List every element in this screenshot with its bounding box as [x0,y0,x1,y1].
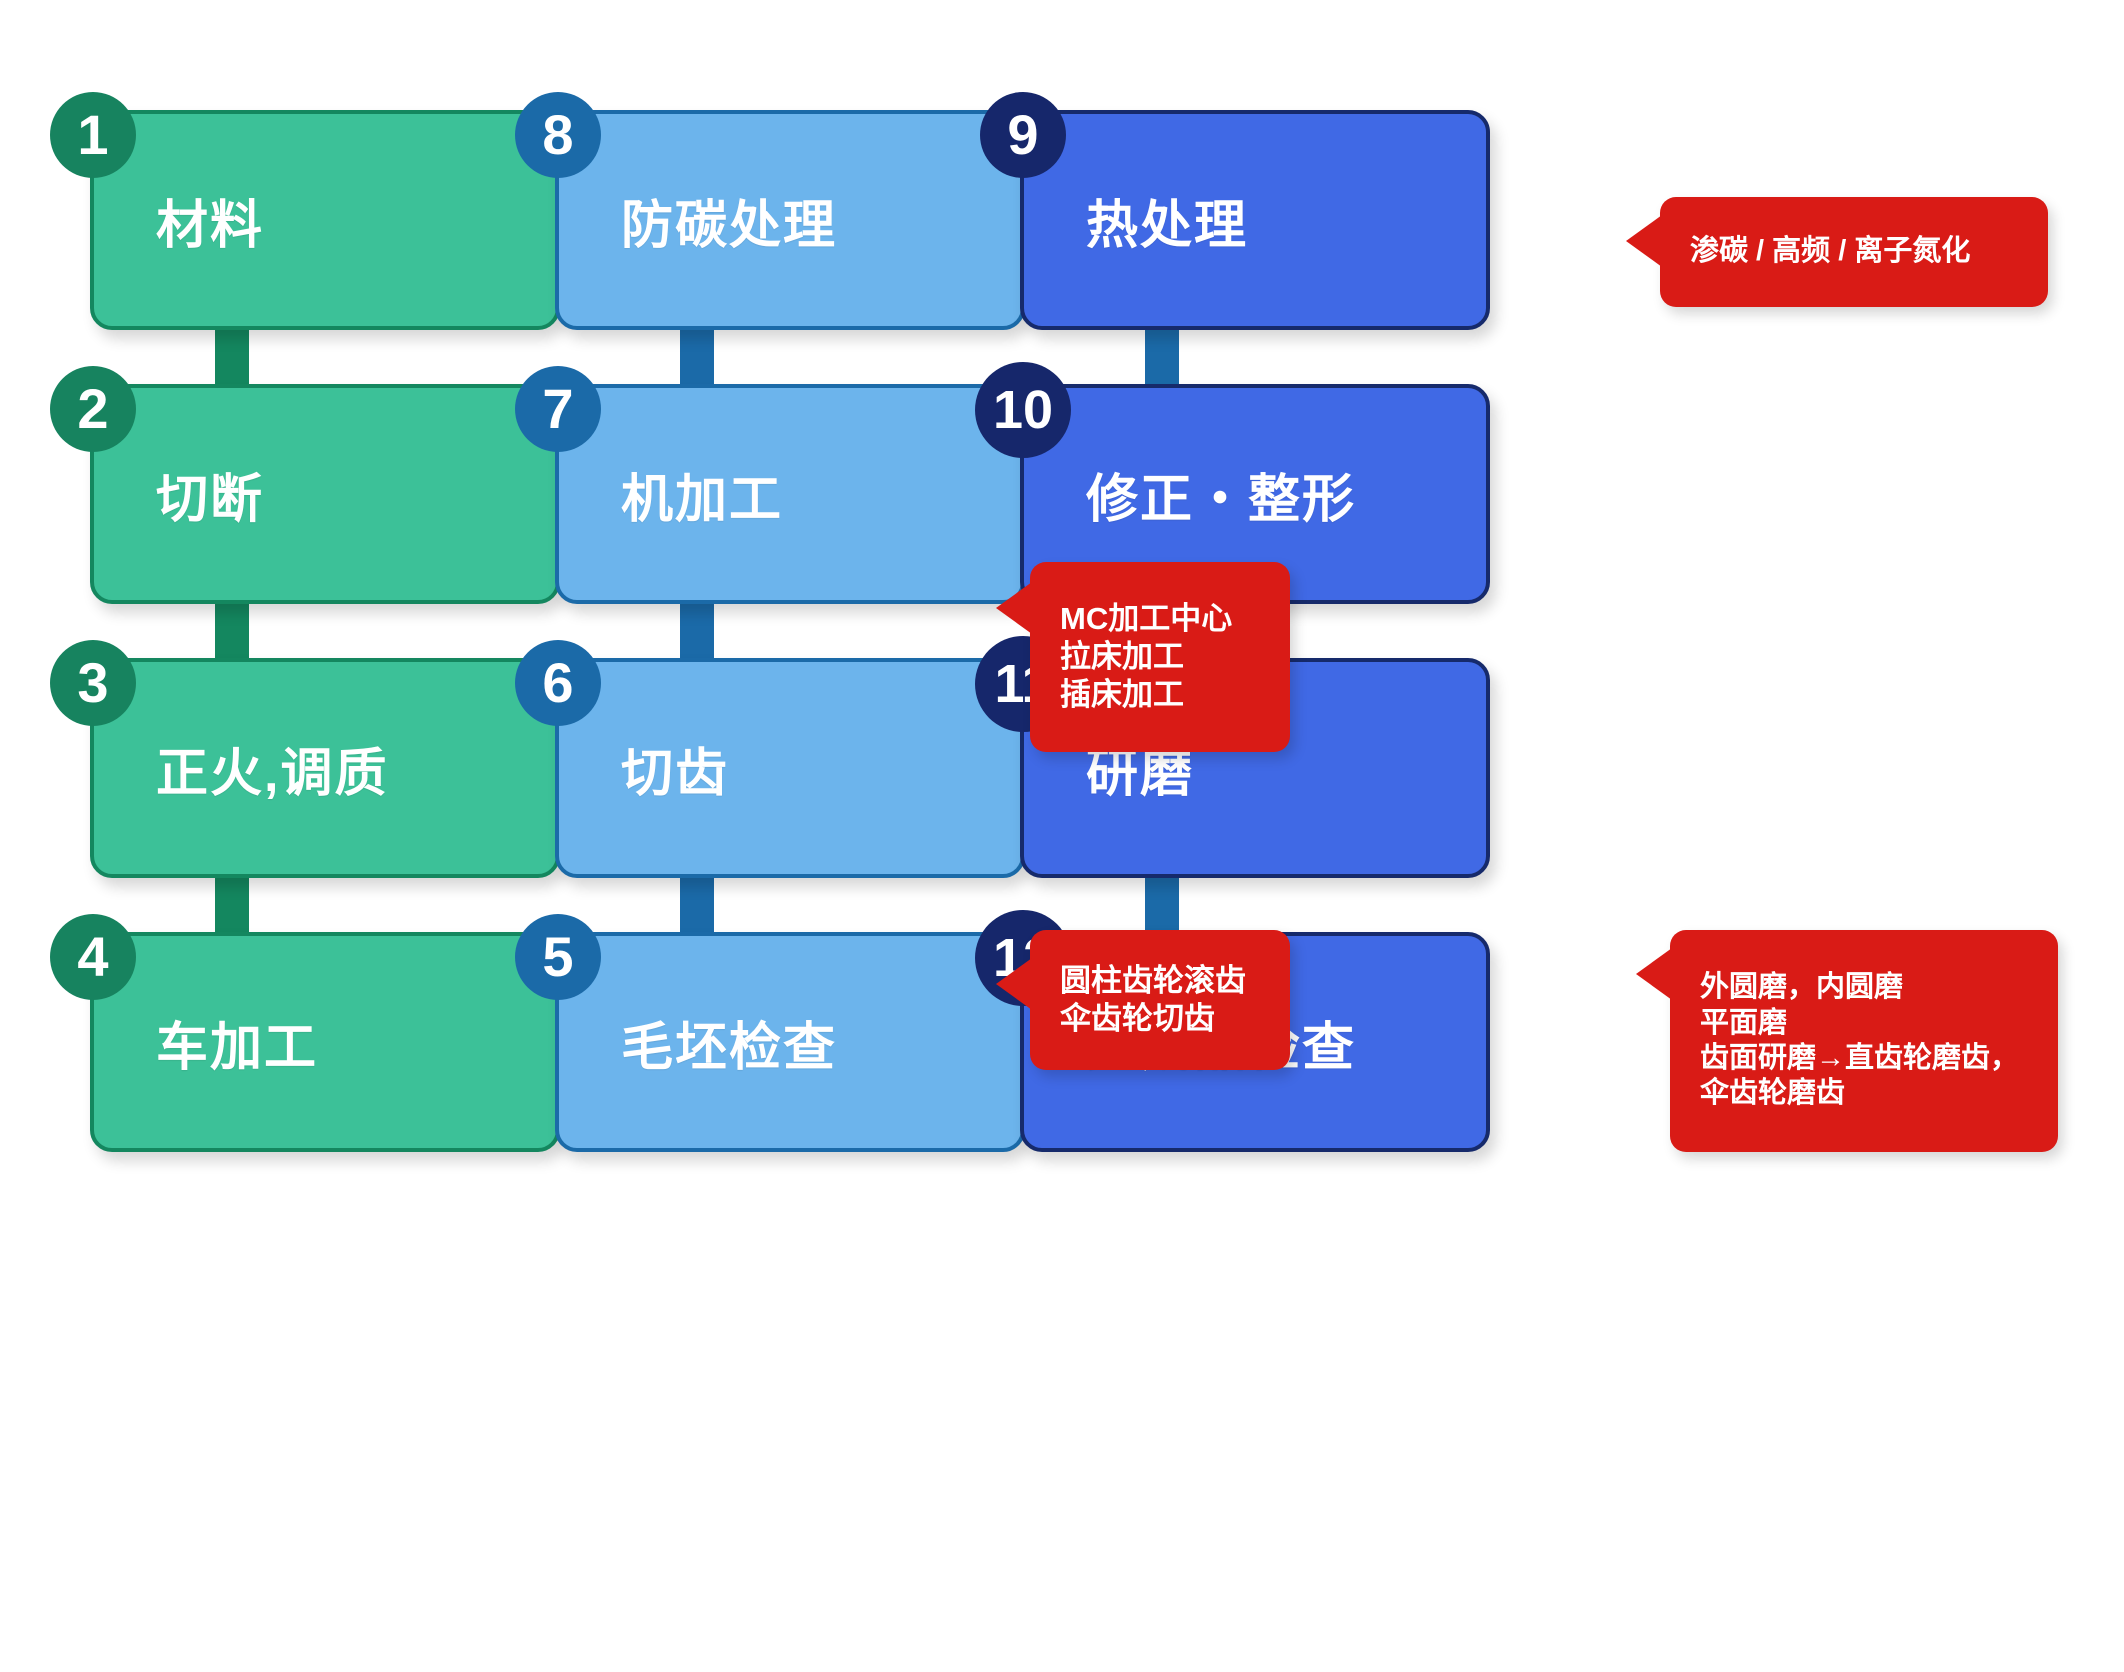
badge-number: 7 [542,381,573,437]
badge-number: 6 [542,655,573,711]
callout-text: 圆柱齿轮滚齿 伞齿轮切齿 [1030,946,1272,1054]
badge-6: 6 [515,640,601,726]
node-label: 防碳处理 [559,183,837,258]
node-label: 正火,调质 [94,731,388,806]
badge-number: 8 [542,107,573,163]
node-1-material[interactable]: 材料 [90,110,560,330]
badge-4: 4 [50,914,136,1000]
node-label: 材料 [94,183,264,258]
flowchart-canvas: 材料 1 切断 2 正火,调质 3 车加工 4 毛坯检查 5 切齿 6 机加工 … [0,0,2124,1672]
badge-5: 5 [515,914,601,1000]
badge-10: 10 [975,362,1071,458]
badge-8: 8 [515,92,601,178]
badge-number: 9 [1007,107,1038,163]
node-label: 切断 [94,457,264,532]
badge-number: 2 [77,381,108,437]
node-label: 机加工 [559,457,783,532]
callout-tail-icon [1636,948,1672,1000]
node-4-turning[interactable]: 车加工 [90,932,560,1152]
callout-heat-treatment: 渗碳 / 高频 / 离子氮化 [1660,197,2048,307]
callout-text: 渗碳 / 高频 / 离子氮化 [1660,218,1996,285]
badge-number: 5 [542,929,573,985]
badge-number: 1 [77,107,108,163]
badge-7: 7 [515,366,601,452]
callout-text: 外圆磨，内圆磨 平面磨 齿面研磨→直齿轮磨齿， 伞齿轮磨齿 [1670,954,2045,1128]
badge-number: 3 [77,655,108,711]
callout-grinding: 外圆磨，内圆磨 平面磨 齿面研磨→直齿轮磨齿， 伞齿轮磨齿 [1670,930,2058,1152]
node-8-anti-carburizing[interactable]: 防碳处理 [555,110,1025,330]
node-label: 切齿 [559,731,729,806]
badge-number: 10 [993,383,1053,437]
node-3-normalizing-tempering[interactable]: 正火,调质 [90,658,560,878]
node-2-cutoff[interactable]: 切断 [90,384,560,604]
node-label: 修正・整形 [1024,457,1356,532]
badge-2: 2 [50,366,136,452]
badge-9: 9 [980,92,1066,178]
badge-number: 4 [77,929,108,985]
callout-tail-icon [1626,215,1662,267]
callout-gear-cutting: 圆柱齿轮滚齿 伞齿轮切齿 [1030,930,1290,1070]
callout-text: MC加工中心 拉床加工 插床加工 [1030,584,1258,729]
node-5-blank-inspection[interactable]: 毛坯检查 [555,932,1025,1152]
callout-tail-icon [996,958,1032,1010]
node-6-gear-cutting[interactable]: 切齿 [555,658,1025,878]
node-label: 车加工 [94,1005,318,1080]
badge-1: 1 [50,92,136,178]
callout-machining: MC加工中心 拉床加工 插床加工 [1030,562,1290,752]
node-7-machining[interactable]: 机加工 [555,384,1025,604]
callout-tail-icon [996,582,1032,634]
node-9-heat-treatment[interactable]: 热处理 [1020,110,1490,330]
node-label: 毛坯检查 [559,1005,837,1080]
badge-3: 3 [50,640,136,726]
node-label: 热处理 [1024,183,1248,258]
